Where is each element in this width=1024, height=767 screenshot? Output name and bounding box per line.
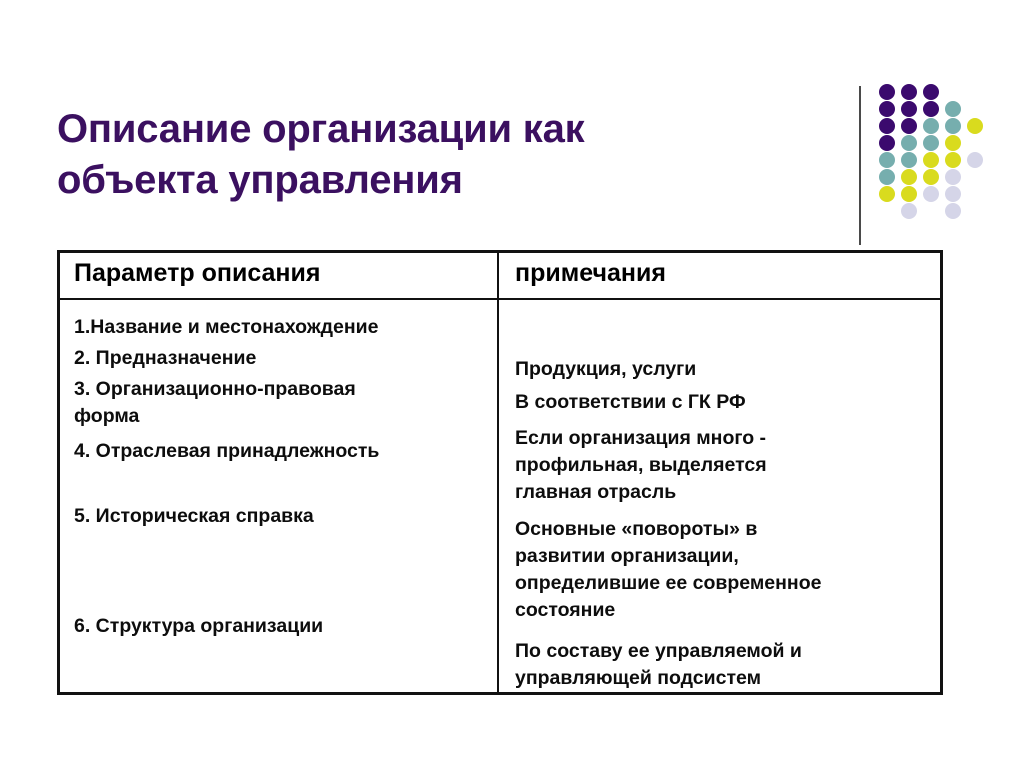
decorative-dot [945,118,961,134]
decorative-dot [945,101,961,117]
table-cell-note: В соответствии с ГК РФ [515,389,746,416]
decorative-dot [945,152,961,168]
decorative-dot [901,203,917,219]
table-cell-note: По составу ее управляемой и управляющей … [515,638,802,692]
decorative-dot [901,135,917,151]
slide-canvas: Описание организации как объекта управле… [0,0,1024,767]
page-title-line-1: Описание организации как [57,104,757,155]
table-column-divider-body [497,300,499,692]
decorative-dot [923,186,939,202]
decorative-dot [901,101,917,117]
table-cell-parameter: 5. Историческая справка [74,503,314,530]
table-cell-note: Основные «повороты» в развитии организац… [515,516,821,624]
decorative-dot [923,135,939,151]
table-header-notes: примечания [515,259,666,288]
decorative-dot [879,101,895,117]
decorative-dot [879,169,895,185]
table-column-divider-header [497,253,499,298]
table-cell-note: Если организация много - профильная, выд… [515,425,767,506]
page-title: Описание организации как объекта управле… [57,104,757,206]
decorative-dot [945,186,961,202]
table-cell-note: Продукция, услуги [515,356,696,383]
decorative-dot [901,152,917,168]
decorative-dot [879,118,895,134]
table-cell-parameter: 2. Предназначение [74,345,256,372]
page-title-line-2: объекта управления [57,155,757,206]
decorative-dot [923,169,939,185]
decorative-dot [901,118,917,134]
decorative-dot [923,152,939,168]
decorative-dot [901,84,917,100]
decorative-dot [945,169,961,185]
decorative-dot [967,152,983,168]
decorative-dot [923,84,939,100]
table-cell-parameter: 6. Структура организации [74,613,323,640]
table-body: 1.Название и местонахождение2. Предназна… [60,300,940,692]
table-cell-parameter: 4. Отраслевая принадлежность [74,438,379,465]
decorative-dot-grid-icon [879,84,989,224]
table-cell-parameter: 3. Организационно-правовая форма [74,376,356,430]
decorative-dot [879,152,895,168]
decorative-vertical-rule [859,86,861,245]
decorative-dot [879,135,895,151]
decorative-dot [879,84,895,100]
decorative-dot [901,169,917,185]
decorative-dot [967,118,983,134]
decorative-dot [945,203,961,219]
table-cell-parameter: 1.Название и местонахождение [74,314,379,341]
table-header-parameter: Параметр описания [74,259,320,288]
decorative-dot [923,118,939,134]
decorative-dot [879,186,895,202]
description-parameters-table: Параметр описания примечания 1.Название … [57,250,943,695]
decorative-dot [901,186,917,202]
table-header-row: Параметр описания примечания [60,253,940,300]
decorative-dot [923,101,939,117]
decorative-dot [945,135,961,151]
